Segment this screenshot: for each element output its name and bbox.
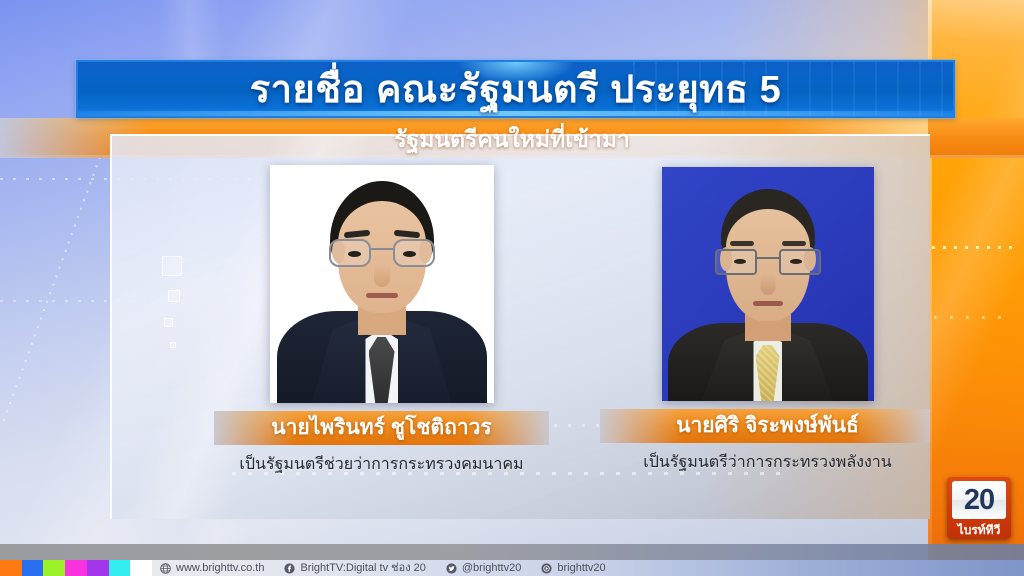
ticker-twitter-label: @brighttv20	[462, 560, 521, 576]
channel-logo: 20 ไบรท์ทีวี	[947, 477, 1011, 539]
person-role-2: เป็นรัฐมนตรีว่าการกระทรวงพลังงาน	[600, 453, 930, 473]
person-photo-2	[662, 167, 874, 401]
ticker-facebook[interactable]: BrightTV:Digital tv ช่อง 20	[284, 560, 425, 576]
person-card-2: นายศิริ จิระพงษ์พันธ์ เป็นรัฐมนตรีว่าการ…	[600, 167, 930, 473]
ticker-facebook-label: BrightTV:Digital tv ช่อง 20	[300, 560, 425, 576]
ticker-upper-strip	[0, 544, 1024, 560]
color-bars	[0, 560, 152, 576]
headline-subtitle: รัฐมนตรีคนใหม่ที่เข้ามา	[0, 120, 1024, 158]
person-name-1: นายไพรินทร์ ชูโชติถาวร	[214, 411, 549, 445]
person-card-1: นายไพรินทร์ ชูโชติถาวร เป็นรัฐมนตรีช่วยว…	[214, 165, 549, 475]
broadcast-stage: นายไพรินทร์ ชูโชติถาวร เป็นรัฐมนตรีช่วยว…	[0, 0, 1024, 576]
content-panel: นายไพรินทร์ ชูโชติถาวร เป็นรัฐมนตรีช่วยว…	[110, 134, 930, 519]
person-nameplate-2: นายศิริ จิระพงษ์พันธ์	[600, 409, 930, 443]
content-panel-squares	[162, 256, 202, 366]
person-role-1: เป็นรัฐมนตรีช่วยว่าการกระทรวงคมนาคม	[214, 455, 549, 475]
youtube-icon	[541, 563, 552, 574]
channel-logo-box: 20	[952, 481, 1006, 519]
twitter-icon	[446, 563, 457, 574]
person-name-2: นายศิริ จิระพงษ์พันธ์	[600, 409, 930, 443]
right-panel-dotted-line	[932, 246, 1018, 249]
ticker-twitter[interactable]: @brighttv20	[446, 560, 521, 576]
channel-logo-name: ไบรท์ทีวี	[947, 523, 1011, 538]
ticker-youtube[interactable]: brighttv20	[541, 560, 605, 576]
ticker-links: www.brighttv.co.th BrightTV:Digital tv ช…	[160, 560, 606, 576]
right-panel-dotted-line-secondary	[934, 316, 1014, 319]
ticker-website[interactable]: www.brighttv.co.th	[160, 560, 264, 576]
ticker-website-label: www.brighttv.co.th	[176, 560, 264, 576]
ticker-youtube-label: brighttv20	[557, 560, 605, 576]
headline-title: รายชื่อ คณะรัฐมนตรี ประยุทธ 5	[78, 62, 953, 118]
facebook-icon	[284, 563, 295, 574]
globe-icon	[160, 563, 171, 574]
person-photo-1	[270, 165, 494, 403]
channel-logo-number: 20	[964, 486, 994, 515]
title-banner: รายชื่อ คณะรัฐมนตรี ประยุทธ 5	[76, 60, 955, 118]
person-nameplate-1: นายไพรินทร์ ชูโชติถาวร	[214, 411, 549, 445]
